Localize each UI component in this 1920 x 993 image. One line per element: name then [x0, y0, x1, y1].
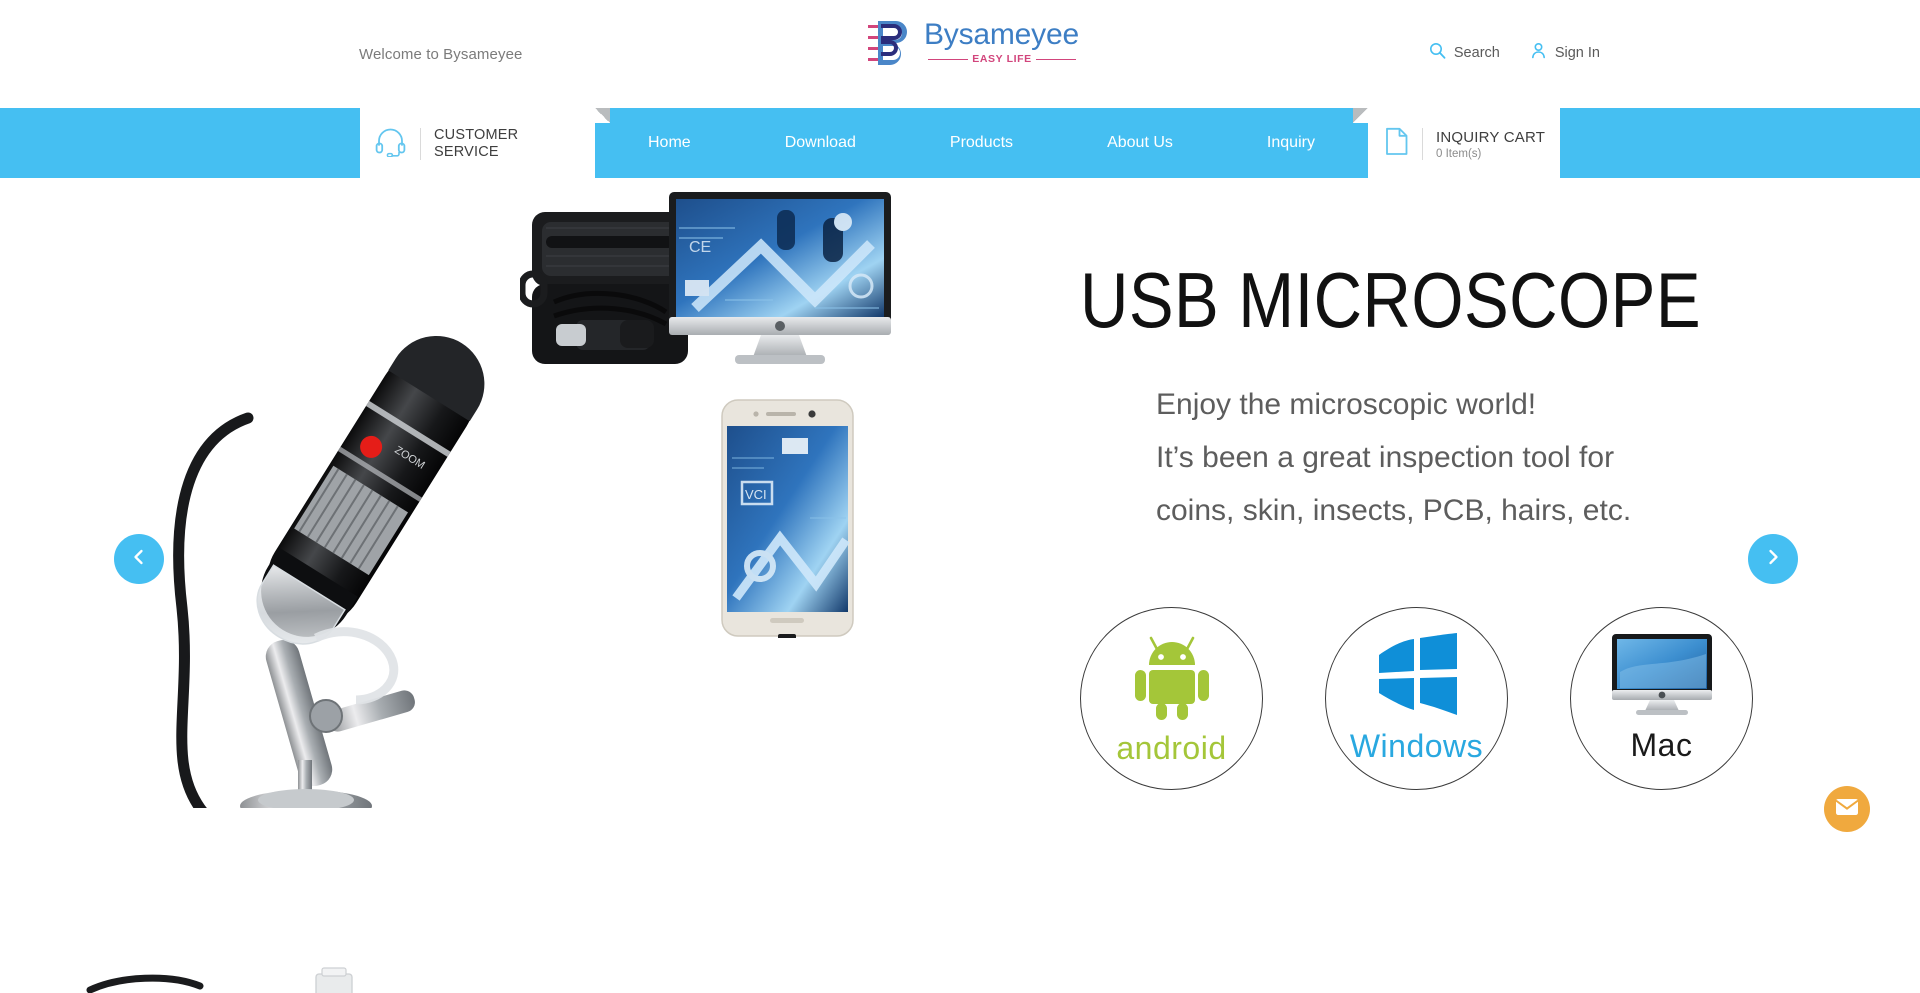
platform-badge-windows[interactable]: Windows [1325, 607, 1508, 790]
hero-product-image: ZOOM [120, 208, 920, 828]
platform-label-windows: Windows [1350, 728, 1483, 765]
customer-service-block[interactable]: CUSTOMER SERVICE [374, 122, 518, 166]
site-logo[interactable]: Bysameyee EASY LIFE [866, 16, 1076, 72]
hero-copy: USB MICROSCOPE Enjoy the microscopic wor… [1080, 258, 1800, 537]
logo-wordmark: Bysameyee [924, 18, 1079, 52]
imac-icon [1610, 632, 1714, 723]
carousel-next-button[interactable] [1748, 534, 1798, 584]
search-label: Search [1454, 45, 1500, 61]
nav-item-products[interactable]: Products [950, 134, 1013, 152]
search-button[interactable]: Search [1429, 42, 1500, 64]
platform-badge-mac[interactable]: Mac [1570, 607, 1753, 790]
svg-text:VCI: VCI [745, 487, 767, 502]
customer-service-divider [420, 128, 421, 160]
welcome-message: Welcome to Bysameyee [359, 46, 522, 63]
cs-line-2: SERVICE [434, 144, 499, 160]
top-bar: Welcome to Bysameyee Bysameyee [0, 0, 1920, 84]
svg-text:CE: CE [689, 239, 711, 256]
user-icon [1530, 42, 1547, 64]
tagline-rule-right [1036, 59, 1076, 60]
tagline-rule-left [928, 59, 968, 60]
platform-label-mac: Mac [1631, 727, 1693, 764]
nav-item-about-us[interactable]: About Us [1107, 134, 1173, 152]
document-icon [1385, 127, 1409, 161]
nav-menu: Home Download Products About Us Inquiry [595, 108, 1368, 178]
cart-item-count: 0 Item(s) [1436, 148, 1545, 160]
chevron-left-icon [129, 547, 149, 572]
sign-in-button[interactable]: Sign In [1530, 42, 1600, 64]
hero-line-3: coins, skin, insects, PCB, hairs, etc. [1156, 484, 1800, 537]
nav-item-inquiry[interactable]: Inquiry [1267, 134, 1315, 152]
hero-line-1: Enjoy the microscopic world! [1156, 378, 1800, 431]
platform-label-android: android [1116, 730, 1226, 767]
next-section-peek [0, 960, 1920, 993]
android-icon [1126, 629, 1218, 726]
imac-display-image: CE [665, 188, 895, 373]
hero-line-2: It’s been a great inspection tool for [1156, 431, 1800, 484]
platform-badge-android[interactable]: android [1080, 607, 1263, 790]
hero-carousel-slide: ZOOM [0, 178, 1920, 938]
sign-in-label: Sign In [1555, 45, 1600, 61]
top-actions: Search Sign In [1429, 42, 1600, 64]
b-logo-icon [866, 18, 918, 70]
nav-band-left [0, 108, 360, 178]
cart-divider [1422, 128, 1423, 160]
platform-badges: android Windows [1080, 598, 1780, 798]
chat-contact-button[interactable] [1824, 786, 1870, 832]
nav-item-home[interactable]: Home [648, 134, 691, 152]
search-icon [1429, 42, 1446, 64]
cart-text-group: INQUIRY CART 0 Item(s) [1436, 129, 1545, 160]
nav-item-download[interactable]: Download [785, 134, 856, 152]
tagline-text: EASY LIFE [972, 53, 1031, 65]
inquiry-cart-button[interactable]: INQUIRY CART 0 Item(s) [1385, 122, 1545, 166]
chevron-right-icon [1763, 547, 1783, 572]
nav-band-right [1560, 108, 1920, 178]
envelope-icon [1835, 798, 1859, 821]
hero-subtitle: Enjoy the microscopic world! It’s been a… [1156, 378, 1800, 537]
logo-tagline: EASY LIFE [928, 52, 1076, 66]
headset-icon [374, 127, 407, 162]
cs-line-1: CUSTOMER [434, 127, 518, 143]
customer-service-label: CUSTOMER SERVICE [434, 127, 518, 161]
smartphone-image: VCI [720, 398, 855, 638]
page-root: Welcome to Bysameyee Bysameyee [0, 0, 1920, 993]
page-title: USB MICROSCOPE [1080, 258, 1699, 342]
usb-microscope-illustration: ZOOM [130, 308, 550, 808]
main-navigation-bar: CUSTOMER SERVICE Home Download Products … [0, 108, 1920, 178]
carousel-prev-button[interactable] [114, 534, 164, 584]
windows-icon [1371, 631, 1463, 724]
cart-title: INQUIRY CART [1436, 129, 1545, 146]
